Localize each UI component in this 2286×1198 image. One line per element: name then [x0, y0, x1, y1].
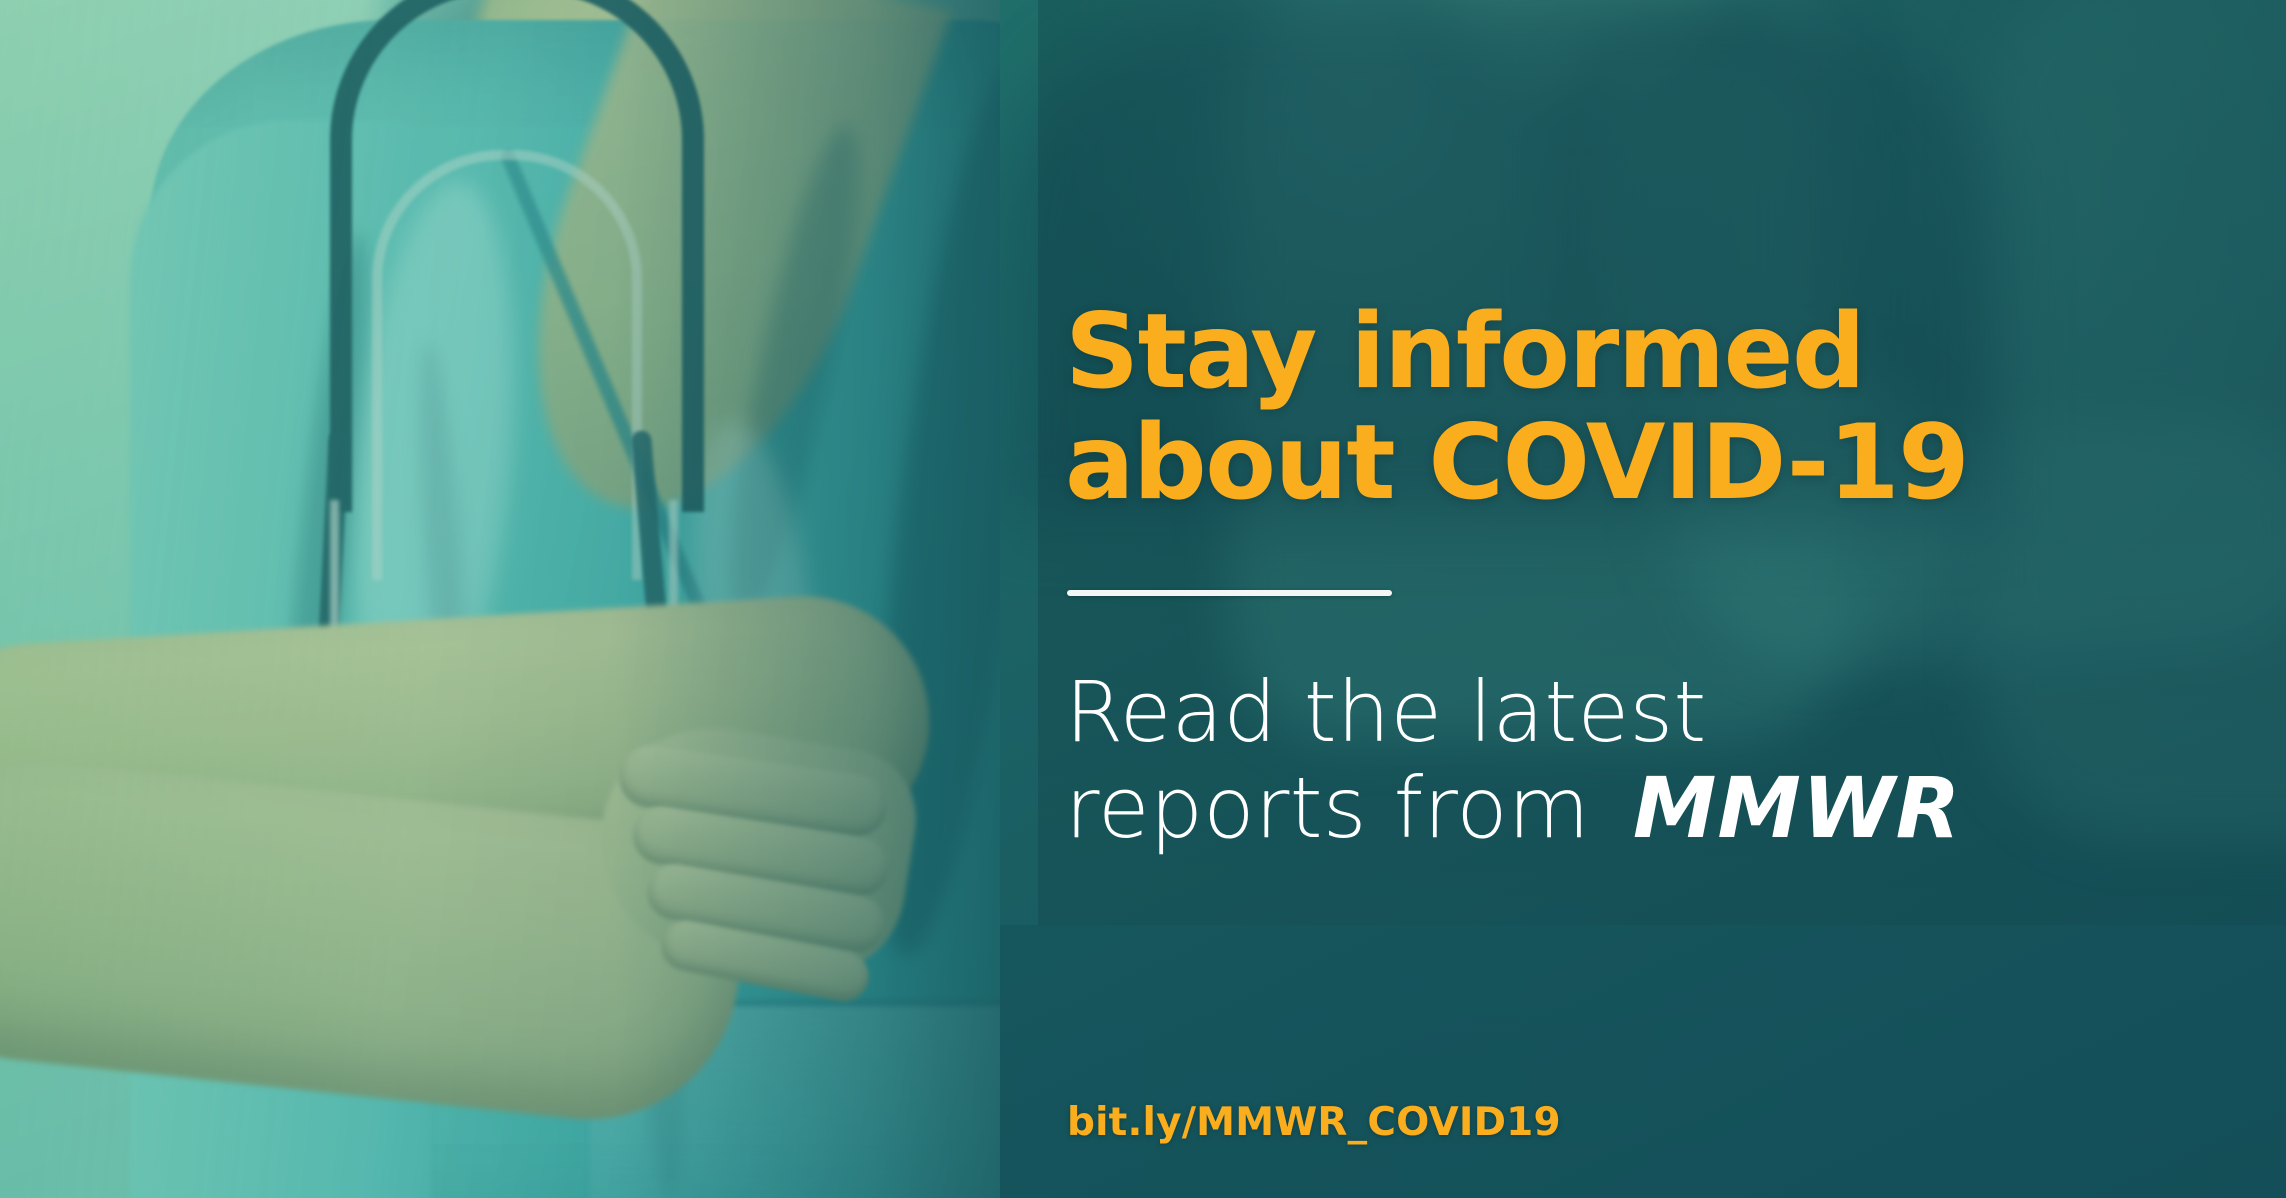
mmwr-brand-label: MMWR — [1617, 759, 1962, 857]
subtitle: Read the latest reports from MMWR — [1065, 665, 2145, 857]
short-url-link[interactable]: bit.ly/MMWR_COVID19 — [1067, 1100, 1561, 1145]
covid-awareness-banner: Stay informed about COVID-19 Read the la… — [0, 0, 2286, 1198]
subtitle-line-1: Read the latest — [1065, 665, 2145, 761]
divider — [1067, 590, 1392, 596]
subtitle-line-2: reports from MMWR — [1065, 761, 2145, 857]
subtitle-line-2-text: reports from — [1065, 759, 1617, 857]
page-title: Stay informed about COVID-19 — [1065, 297, 2125, 519]
banner-content: Stay informed about COVID-19 Read the la… — [1065, 0, 2165, 1198]
